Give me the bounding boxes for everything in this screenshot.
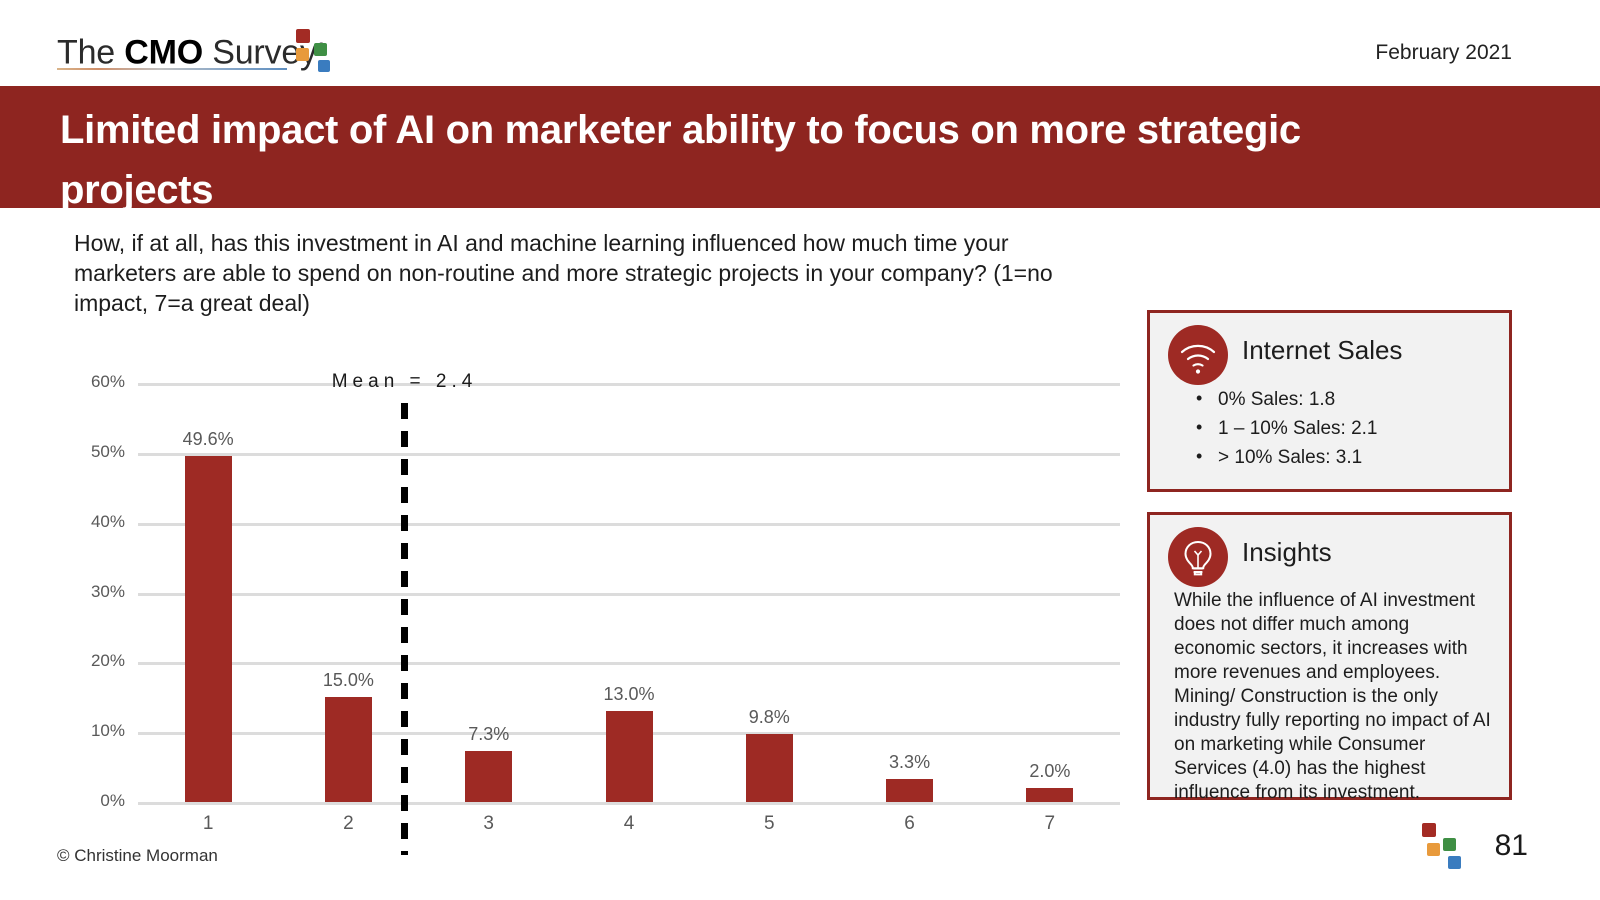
chart-gridline [138, 593, 1120, 596]
chart-gridline [138, 802, 1120, 805]
bar [746, 734, 793, 802]
insights-card: Insights While the influence of AI inves… [1147, 512, 1512, 800]
logo-square-orange-icon [296, 48, 309, 61]
bar-value-label: 3.3% [850, 752, 970, 773]
chart-plot-area: 49.6%15.0%7.3%13.0%9.8%3.3%2.0%Mean = 2.… [138, 383, 1120, 802]
y-axis-tick: 0% [55, 791, 125, 811]
bar [886, 779, 933, 802]
page-number: 81 [1495, 829, 1528, 863]
x-axis-tick: 6 [870, 813, 950, 835]
x-axis-tick: 7 [1010, 813, 1090, 835]
title-banner: Limited impact of AI on marketer ability… [0, 86, 1600, 208]
internet-sales-list: 0% Sales: 1.81 – 10% Sales: 2.1> 10% Sal… [1196, 385, 1509, 472]
x-axis-tick: 4 [589, 813, 669, 835]
y-axis-tick: 40% [55, 512, 125, 532]
chart-gridline [138, 662, 1120, 665]
bar-value-label: 7.3% [429, 724, 549, 745]
insights-card-title: Insights [1242, 537, 1332, 568]
internet-sales-card-title: Internet Sales [1242, 335, 1402, 366]
slide-header: The CMO Survey® February 2021 [0, 0, 1600, 86]
copyright-label: © Christine Moorman [57, 846, 218, 866]
insights-card-body: While the influence of AI investment doe… [1174, 589, 1491, 805]
bar [465, 751, 512, 802]
x-axis-tick: 3 [449, 813, 529, 835]
internet-sales-card: Internet Sales 0% Sales: 1.81 – 10% Sale… [1147, 310, 1512, 492]
chart-gridline [138, 453, 1120, 456]
x-axis-tick: 1 [168, 813, 248, 835]
logo-underline-divider [57, 68, 287, 70]
wifi-icon [1168, 325, 1228, 385]
bar-chart: 49.6%15.0%7.3%13.0%9.8%3.3%2.0%Mean = 2.… [0, 330, 1140, 850]
y-axis-tick: 30% [55, 582, 125, 602]
bar [325, 697, 372, 802]
page-title: Limited impact of AI on marketer ability… [60, 100, 1380, 220]
list-item: > 10% Sales: 3.1 [1196, 443, 1509, 472]
slide: The CMO Survey® February 2021 Limited im… [0, 0, 1600, 900]
logo-square-blue-icon [318, 60, 330, 72]
y-axis-tick: 60% [55, 372, 125, 392]
bar-value-label: 13.0% [569, 684, 689, 705]
logo-cmo: CMO [124, 33, 203, 71]
footer-square-red-icon [1422, 823, 1436, 837]
bar [606, 711, 653, 802]
survey-date: February 2021 [1375, 41, 1512, 65]
chart-gridline [138, 523, 1120, 526]
x-axis-tick: 2 [308, 813, 388, 835]
logo-square-green-icon [314, 43, 327, 56]
logo-the: The [57, 33, 124, 71]
logo-square-red-icon [296, 29, 310, 43]
bar-value-label: 2.0% [990, 761, 1110, 782]
survey-question-text: How, if at all, has this investment in A… [74, 228, 1064, 318]
lightbulb-icon [1168, 527, 1228, 587]
bar [1026, 788, 1073, 802]
y-axis-tick: 50% [55, 442, 125, 462]
footer-square-blue-icon [1448, 856, 1461, 869]
bar-value-label: 49.6% [148, 429, 268, 450]
logo-wordmark: The CMO Survey® [57, 28, 326, 71]
footer-square-green-icon [1443, 838, 1456, 851]
list-item: 1 – 10% Sales: 2.1 [1196, 414, 1509, 443]
footer-square-orange-icon [1427, 843, 1440, 856]
y-axis-tick: 10% [55, 721, 125, 741]
insights-card-header: Insights [1150, 515, 1509, 587]
internet-sales-card-header: Internet Sales [1150, 313, 1509, 385]
bar-value-label: 9.8% [709, 707, 829, 728]
bar [185, 456, 232, 802]
x-axis-tick: 5 [729, 813, 809, 835]
mean-label: Mean = 2.4 [255, 371, 555, 393]
bar-value-label: 15.0% [288, 670, 408, 691]
list-item: 0% Sales: 1.8 [1196, 385, 1509, 414]
mean-reference-line [401, 403, 408, 855]
y-axis-tick: 20% [55, 651, 125, 671]
